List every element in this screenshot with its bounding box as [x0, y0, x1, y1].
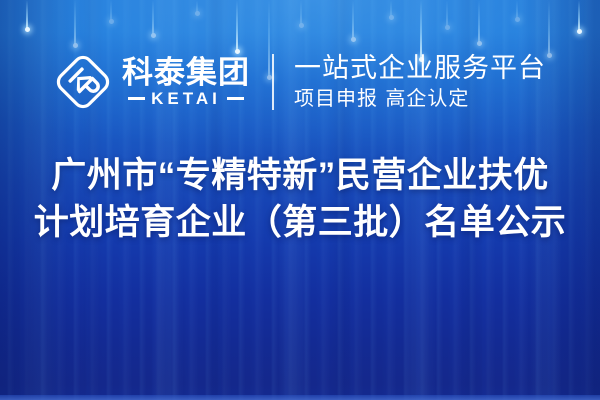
logo-dash-right-icon [227, 97, 244, 100]
logo-wordmark: 科泰集团 KETAI [122, 57, 250, 107]
bottom-edge-strip [0, 395, 600, 400]
header-divider [272, 54, 274, 110]
logo-chinese-name: 科泰集团 [122, 57, 250, 88]
company-logo: 科泰集团 KETAI [54, 53, 250, 111]
tagline-main: 一站式企业服务平台 [294, 55, 546, 83]
banner-header: 科泰集团 KETAI 一站式企业服务平台 项目申报 高企认定 [0, 44, 600, 120]
logo-english-row: KETAI [128, 90, 244, 107]
logo-english-name: KETAI [151, 90, 221, 107]
tagline-block: 一站式企业服务平台 项目申报 高企认定 [294, 55, 546, 108]
logo-dash-left-icon [128, 97, 145, 100]
promo-banner: 科泰集团 KETAI 一站式企业服务平台 项目申报 高企认定 广州市“专精特新”… [0, 0, 600, 400]
ketai-kp-monogram-icon [54, 53, 112, 111]
banner-title: 广州市“专精特新”民营企业扶优 计划培育企业（第三批）名单公示 [0, 152, 600, 246]
title-line-2: 计划培育企业（第三批）名单公示 [0, 199, 600, 246]
tagline-sub: 项目申报 高企认定 [294, 87, 546, 109]
title-line-1: 广州市“专精特新”民营企业扶优 [0, 152, 600, 199]
